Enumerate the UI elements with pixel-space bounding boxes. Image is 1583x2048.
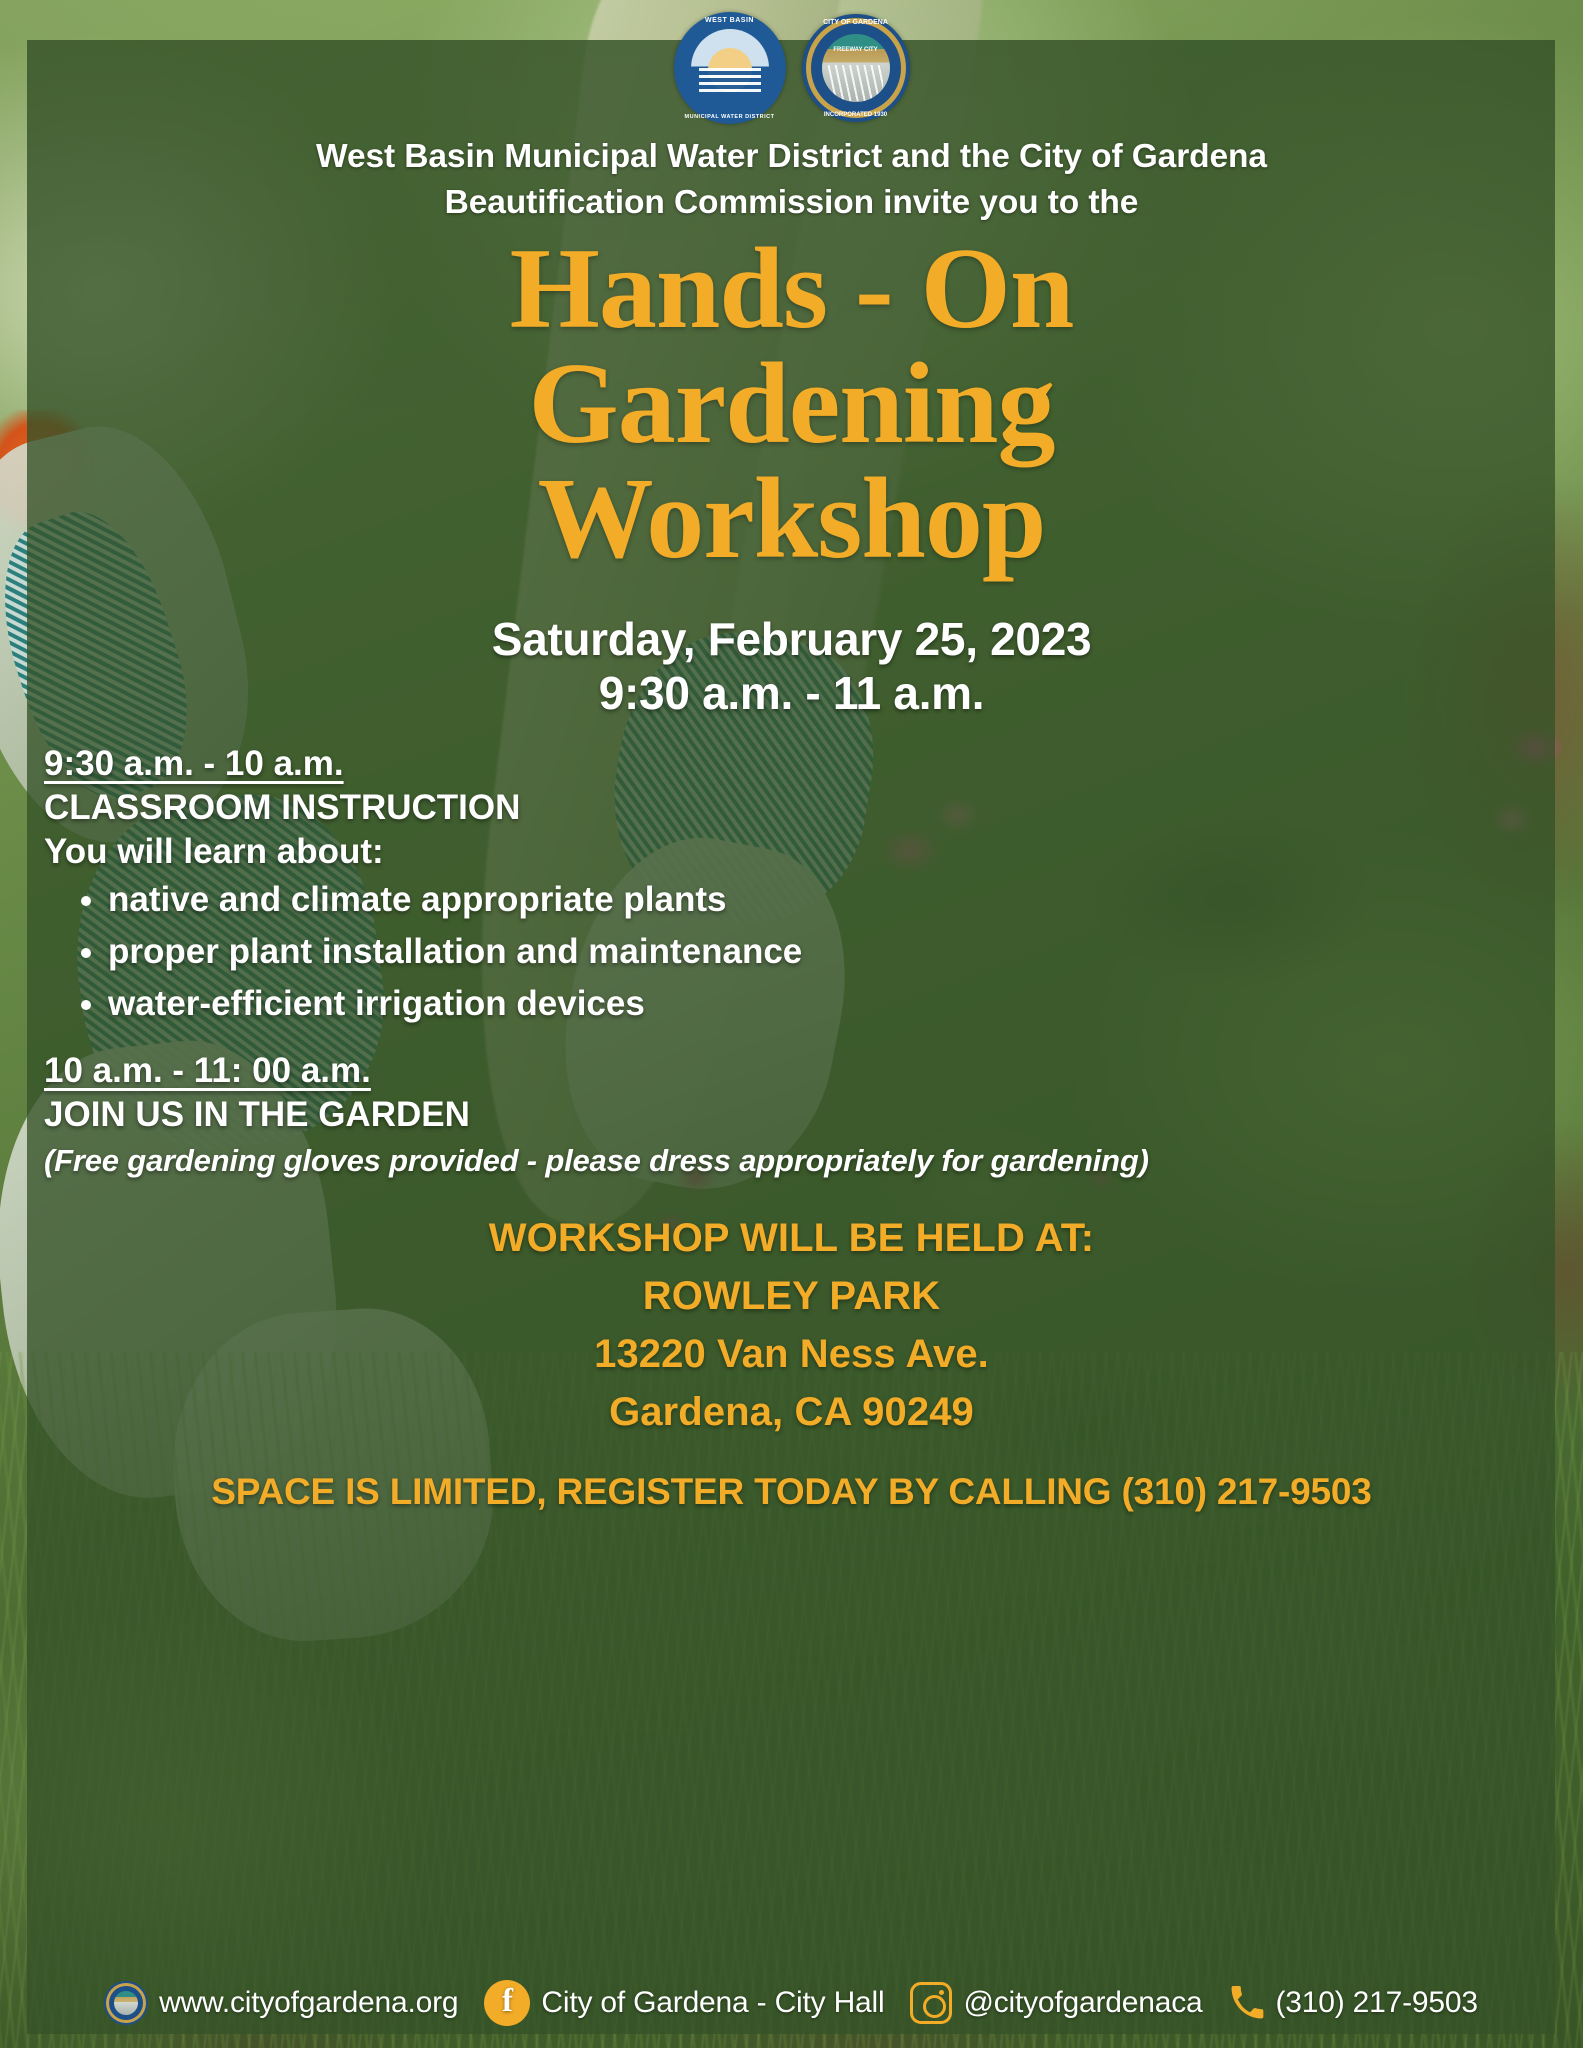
list-item: proper plant installation and maintenanc…	[108, 930, 1539, 974]
event-title-line-3: Workshop	[60, 462, 1523, 577]
event-date: Saturday, February 25, 2023	[492, 613, 1092, 665]
schedule-spacer	[44, 1035, 1539, 1049]
invitation-line-2: Beautification Commission invite you to …	[60, 180, 1523, 226]
instagram-label: @cityofgardenaca	[963, 1986, 1202, 2020]
venue-section: WORKSHOP WILL BE HELD AT: ROWLEY PARK 13…	[60, 1209, 1523, 1441]
flyer-poster: WEST BASIN MUNICIPAL WATER DISTRICT CITY…	[0, 0, 1583, 2048]
city-of-gardena-logo: CITY OF GARDENA FREEWAY CITY INCORPORATE…	[802, 14, 910, 122]
schedule-block-2-note: (Free gardening gloves provided - please…	[44, 1141, 1539, 1180]
phone-icon	[1229, 1985, 1265, 2021]
city-seal-icon	[104, 1981, 148, 2025]
event-time: 9:30 a.m. - 11 a.m.	[60, 666, 1523, 720]
website-label: www.cityofgardena.org	[159, 1986, 458, 2020]
schedule-block-2-time-line: 10 a.m. - 11: 00 a.m.	[44, 1049, 1539, 1093]
gardena-middle-text: FREEWAY CITY	[802, 47, 910, 53]
event-title: Hands - On Gardening Workshop	[60, 232, 1523, 576]
schedule-block-1-time-line: 9:30 a.m. - 10 a.m.	[44, 742, 1539, 786]
list-item: native and climate appropriate plants	[108, 878, 1539, 922]
mini-seal-center	[114, 1991, 138, 2015]
phone-label: (310) 217-9503	[1276, 1986, 1478, 2020]
west-basin-logo: WEST BASIN MUNICIPAL WATER DISTRICT	[674, 12, 786, 124]
venue-label: WORKSHOP WILL BE HELD AT:	[60, 1209, 1523, 1267]
footer-contact-bar: www.cityofgardena.org f City of Gardena …	[27, 1972, 1555, 2034]
west-basin-bottom-text: MUNICIPAL WATER DISTRICT	[674, 114, 786, 120]
footer-phone[interactable]: (310) 217-9503	[1229, 1985, 1478, 2021]
learning-topics-list: native and climate appropriate plants pr…	[44, 878, 1539, 1026]
venue-street: 13220 Van Ness Ave.	[60, 1325, 1523, 1383]
venue-name: ROWLEY PARK	[60, 1267, 1523, 1325]
instagram-icon	[910, 1982, 952, 2024]
west-basin-ring-text: WEST BASIN MUNICIPAL WATER DISTRICT	[674, 12, 786, 124]
flyer-content: WEST BASIN MUNICIPAL WATER DISTRICT CITY…	[0, 0, 1583, 2048]
event-title-line-1: Hands - On	[60, 232, 1523, 347]
register-callout: SPACE IS LIMITED, REGISTER TODAY BY CALL…	[40, 1471, 1543, 1513]
schedule-block-1-time: 9:30 a.m. - 10 a.m.	[44, 742, 344, 786]
facebook-icon: f	[484, 1980, 530, 2026]
schedule-block-1-intro: You will learn about:	[44, 830, 1539, 874]
schedule-block-1-heading: CLASSROOM INSTRUCTION	[44, 786, 1539, 830]
facebook-label: City of Gardena - City Hall	[541, 1986, 884, 2020]
invitation-line-1: West Basin Municipal Water District and …	[60, 134, 1523, 180]
schedule-block-2-heading: JOIN US IN THE GARDEN	[44, 1093, 1539, 1137]
list-item: water-efficient irrigation devices	[108, 982, 1539, 1026]
gardena-cityscape	[822, 34, 890, 102]
west-basin-top-text: WEST BASIN	[674, 17, 786, 24]
invitation-text: West Basin Municipal Water District and …	[60, 134, 1523, 226]
schedule-section: 9:30 a.m. - 10 a.m. CLASSROOM INSTRUCTIO…	[44, 742, 1539, 1180]
footer-facebook[interactable]: f City of Gardena - City Hall	[484, 1980, 884, 2026]
freeway-lines	[828, 65, 882, 100]
event-datetime: Saturday, February 25, 2023 9:30 a.m. - …	[60, 612, 1523, 721]
logo-row: WEST BASIN MUNICIPAL WATER DISTRICT CITY…	[0, 8, 1583, 128]
event-title-line-2: Gardening	[60, 347, 1523, 462]
footer-instagram[interactable]: @cityofgardenaca	[910, 1982, 1202, 2024]
gardena-top-text: CITY OF GARDENA	[802, 19, 910, 26]
gardena-bottom-text: INCORPORATED 1930	[802, 112, 910, 118]
footer-website[interactable]: www.cityofgardena.org	[104, 1981, 458, 2025]
schedule-block-2-time: 10 a.m. - 11: 00 a.m.	[44, 1049, 371, 1093]
venue-city: Gardena, CA 90249	[60, 1383, 1523, 1441]
